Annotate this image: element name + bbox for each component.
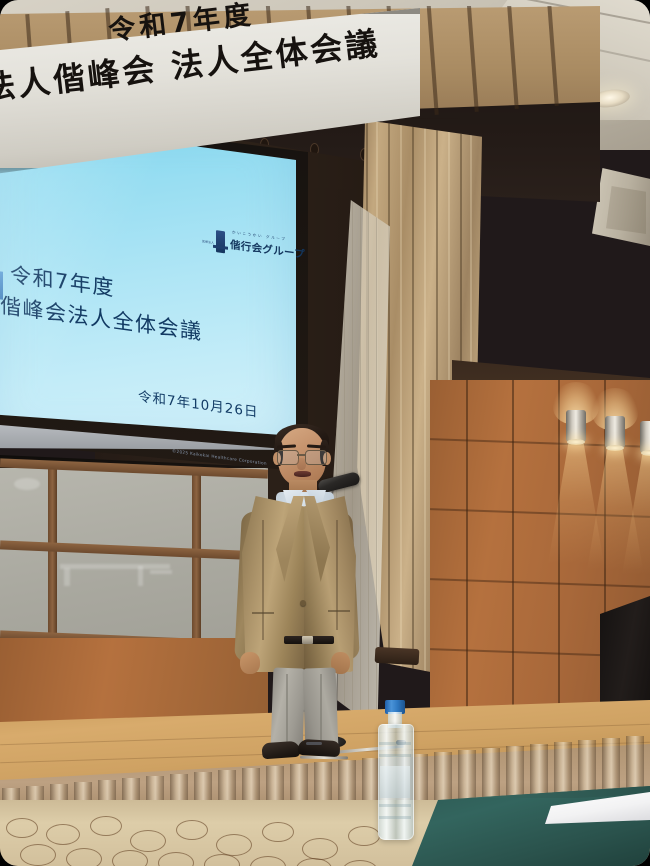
wall-sconce bbox=[605, 416, 625, 448]
wall-sconce bbox=[566, 410, 586, 442]
blazer-button bbox=[300, 600, 306, 606]
water-bottle bbox=[378, 700, 412, 838]
projection-screen-sheen bbox=[0, 118, 296, 448]
trouser-leg-left bbox=[271, 667, 306, 750]
mouth bbox=[294, 471, 311, 477]
shoji-wall-wainscot bbox=[0, 638, 268, 724]
conference-presentation-photo: 医療法人 かいこうかい グループ 偕行会グループ 令和7年度 偕峰会法人全体会議… bbox=[0, 0, 650, 866]
presenter bbox=[236, 424, 356, 754]
shoe-left bbox=[261, 741, 300, 760]
hand-left bbox=[240, 652, 260, 674]
nose bbox=[297, 458, 306, 470]
wall-sconce bbox=[640, 421, 650, 453]
curtain-tieback bbox=[375, 647, 420, 665]
bottle-label bbox=[380, 766, 410, 798]
pa-speaker-grille bbox=[606, 186, 646, 234]
